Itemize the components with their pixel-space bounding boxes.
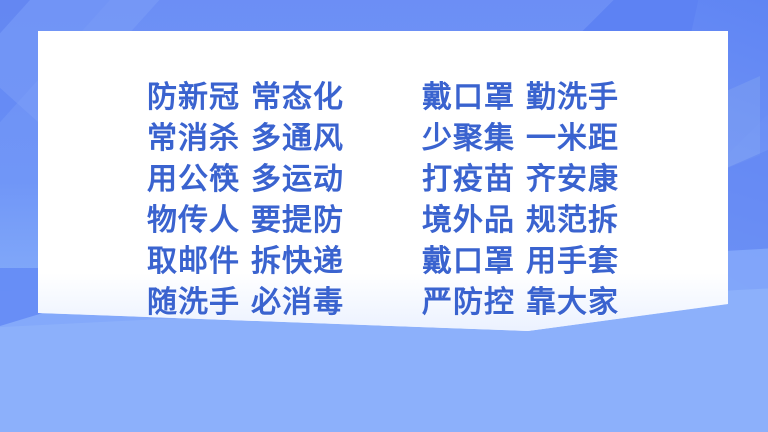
slogan-line: 防新冠常态化 [147,77,344,118]
slogan-phrase: 境外品 [422,203,515,238]
slogan-phrase: 打疫苗 [422,162,515,197]
slogan-phrase: 少聚集 [422,121,515,156]
slogan-line: 戴口罩勤洗手 [422,77,619,118]
slogan-phrase: 一米距 [526,121,619,156]
slogan-phrase: 要提防 [251,203,344,238]
slogan-phrase: 物传人 [147,203,240,238]
slogan-line: 戴口罩用手套 [422,241,619,282]
slogan-phrase: 必消毒 [251,285,344,320]
slogan-line: 用公筷多运动 [147,159,344,200]
slogan-line: 物传人要提防 [147,200,344,241]
slogan-phrase: 靠大家 [526,285,619,320]
slogan-phrase: 拆快递 [251,244,344,279]
slogan-line: 取邮件拆快递 [147,241,344,282]
slogan-line: 严防控靠大家 [422,282,619,323]
slogan-phrase: 防新冠 [147,80,240,115]
slogan-phrase: 多通风 [251,121,344,156]
slogan-phrase: 用公筷 [147,162,240,197]
slogan-line: 少聚集一米距 [422,118,619,159]
slogan-line: 境外品规范拆 [422,200,619,241]
slogan-area: 防新冠常态化 常消杀多通风 用公筷多运动 物传人要提防 取邮件拆快递 随洗手必消… [38,31,728,331]
slogan-phrase: 多运动 [251,162,344,197]
slogan-phrase: 齐安康 [526,162,619,197]
slogan-phrase: 常消杀 [147,121,240,156]
slogan-phrase: 戴口罩 [422,80,515,115]
slogan-phrase: 戴口罩 [422,244,515,279]
slogan-phrase: 规范拆 [526,203,619,238]
slogan-phrase: 常态化 [251,80,344,115]
slogan-phrase: 取邮件 [147,244,240,279]
poster-canvas: 防新冠常态化 常消杀多通风 用公筷多运动 物传人要提防 取邮件拆快递 随洗手必消… [0,0,768,432]
slogan-line: 打疫苗齐安康 [422,159,619,200]
slogan-line: 常消杀多通风 [147,118,344,159]
slogan-phrase: 用手套 [526,244,619,279]
slogan-phrase: 随洗手 [147,285,240,320]
slogan-column-right: 戴口罩勤洗手 少聚集一米距 打疫苗齐安康 境外品规范拆 戴口罩用手套 严防控靠大… [422,77,619,323]
slogan-column-left: 防新冠常态化 常消杀多通风 用公筷多运动 物传人要提防 取邮件拆快递 随洗手必消… [147,77,344,323]
slogan-phrase: 勤洗手 [526,80,619,115]
slogan-phrase: 严防控 [422,285,515,320]
slogan-line: 随洗手必消毒 [147,282,344,323]
